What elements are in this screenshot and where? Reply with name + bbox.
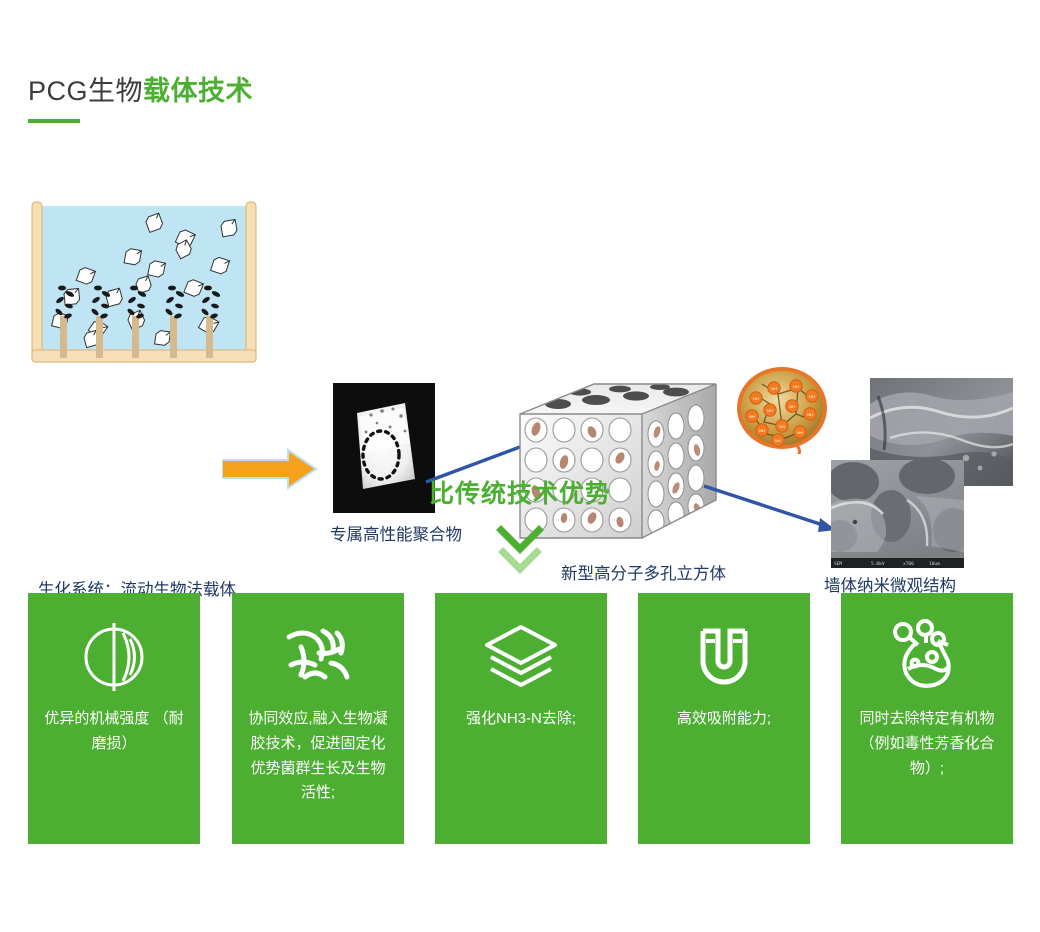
svg-text:NH: NH: [753, 396, 759, 401]
svg-text:NH: NH: [797, 430, 803, 435]
section-heading: 比传统技术优势: [0, 474, 1040, 510]
layers-icon: [481, 617, 561, 695]
flask-bubbles-icon: [888, 617, 966, 695]
advantage-card-text: 强化NH3-N去除;: [451, 707, 591, 732]
advantage-card-strength[interactable]: 优异的机械强度 （耐磨损）: [28, 593, 200, 844]
svg-text:NH: NH: [771, 386, 777, 391]
aeration-tank-illustration: [28, 198, 260, 368]
molecule-disc-icon: NHNHNH NHNHNH NHNHNH NHNHNH: [734, 364, 830, 454]
magnet-icon: [687, 617, 761, 695]
advantage-card-text: 优异的机械强度 （耐磨损）: [44, 707, 184, 757]
svg-text:NH: NH: [779, 424, 785, 429]
advantage-card-biogel[interactable]: 协同效应,融入生物凝胶技术，促进固定化优势菌群生长及生物活性;: [232, 593, 404, 844]
process-diagram: 生化系统：流动生物法载体 专属高性能聚合物: [0, 180, 1040, 430]
page-title-dark: PCG生物: [28, 76, 143, 106]
strength-circle-icon: [77, 617, 151, 695]
svg-text:NH: NH: [793, 384, 799, 389]
chevron-down-icon: [0, 522, 1040, 576]
svg-text:NH: NH: [807, 412, 813, 417]
page-title: PCG生物载体技术: [28, 78, 253, 123]
svg-text:NH: NH: [809, 394, 815, 399]
bacteria-icon: [281, 617, 355, 695]
advantage-card-adsorption[interactable]: 高效吸附能力;: [638, 593, 810, 844]
svg-text:NH: NH: [749, 414, 755, 419]
svg-text:NH: NH: [789, 404, 795, 409]
page-title-green: 载体技术: [143, 76, 253, 106]
advantage-card-text: 同时去除特定有机物（例如毒性芳香化合物）;: [857, 707, 997, 781]
svg-text:NH: NH: [775, 438, 781, 443]
advantage-card-nh3n[interactable]: 强化NH3-N去除;: [435, 593, 607, 844]
svg-text:NH: NH: [767, 408, 773, 413]
svg-text:NH: NH: [759, 428, 765, 433]
advantage-card-organics[interactable]: 同时去除特定有机物（例如毒性芳香化合物）;: [841, 593, 1013, 844]
advantage-card-list: 优异的机械强度 （耐磨损） 协同效应,融入生物凝胶技术，促进固定化优势菌群生长及…: [0, 593, 1040, 844]
title-underline-rule: [28, 119, 80, 123]
advantage-card-text: 高效吸附能力;: [654, 707, 794, 732]
advantage-card-text: 协同效应,融入生物凝胶技术，促进固定化优势菌群生长及生物活性;: [248, 707, 388, 806]
